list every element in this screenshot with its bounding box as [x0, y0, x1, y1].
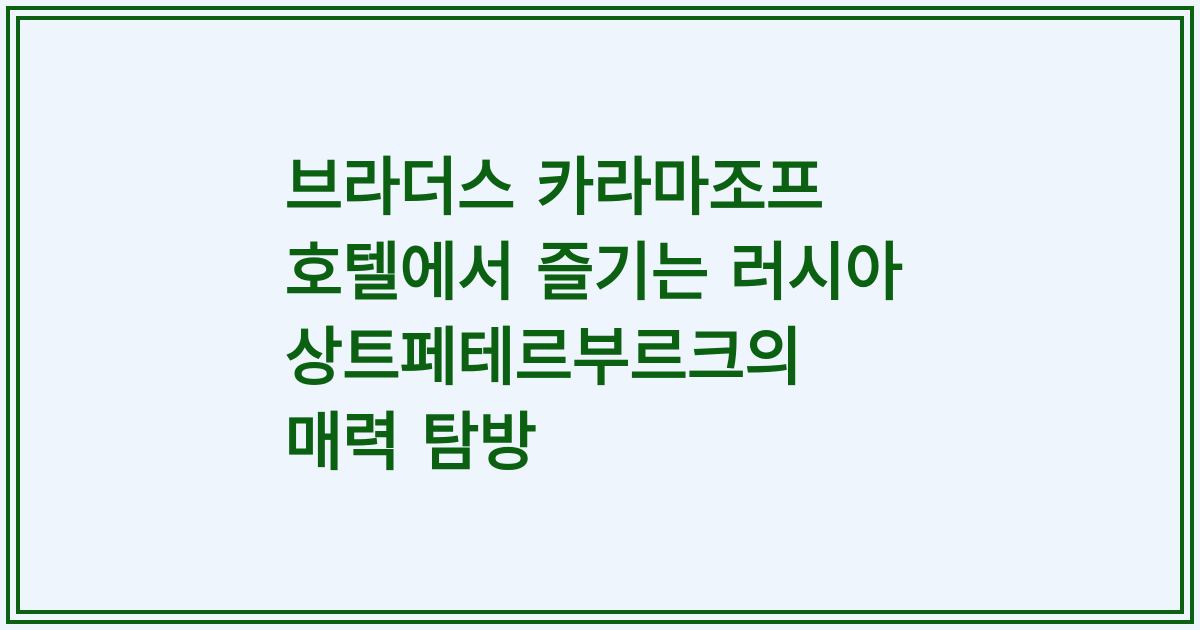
- share-card: 브라더스 카라마조프 호텔에서 즐기는 러시아 상트페테르부르크의 매력 탐방: [0, 0, 1200, 630]
- page-title: 브라더스 카라마조프 호텔에서 즐기는 러시아 상트페테르부르크의 매력 탐방: [285, 145, 915, 485]
- headline-container: 브라더스 카라마조프 호텔에서 즐기는 러시아 상트페테르부르크의 매력 탐방: [20, 20, 1180, 610]
